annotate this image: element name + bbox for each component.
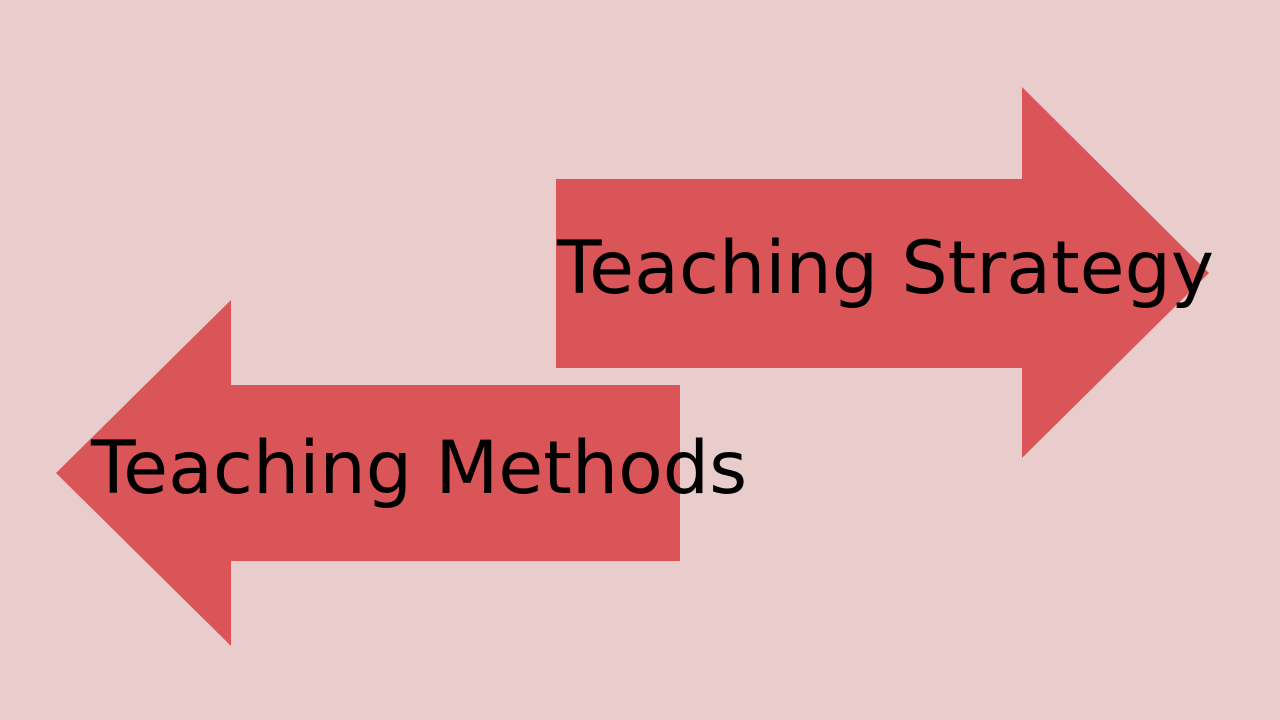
right-arrow-label: Teaching Strategy: [557, 232, 1214, 305]
arrow-shapes-layer: [0, 0, 1280, 720]
slide-canvas: Teaching Strategy Teaching Methods: [0, 0, 1280, 720]
left-arrow-label: Teaching Methods: [91, 432, 747, 505]
